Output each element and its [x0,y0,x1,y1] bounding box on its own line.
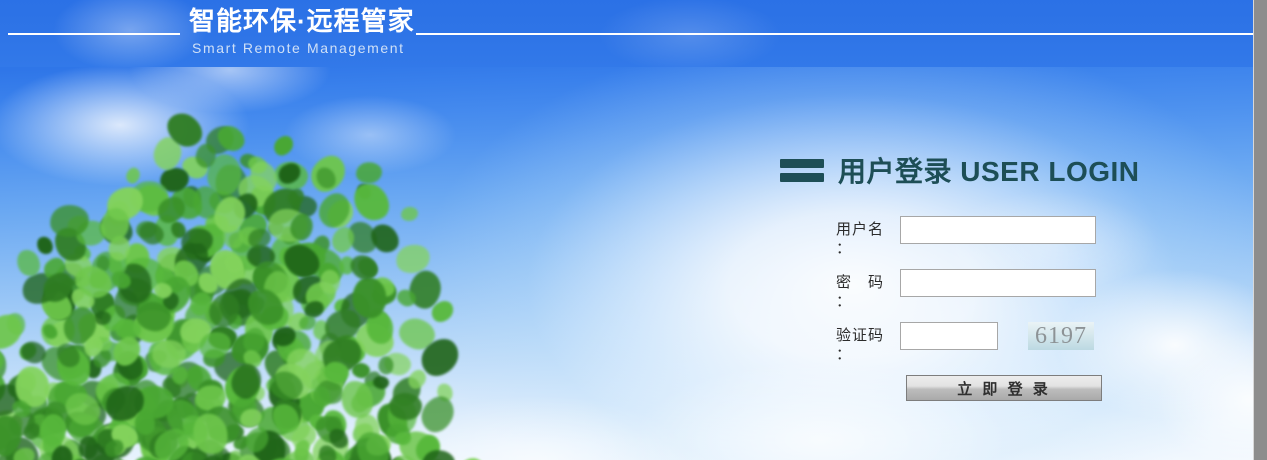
submit-row: 立 即 登 录 [906,375,1170,401]
vertical-scrollbar[interactable] [1253,0,1267,460]
username-label: 用户名 ： [836,216,900,258]
cloud-decoration [330,370,750,460]
username-input[interactable] [900,216,1096,244]
login-heading: 用户登录 USER LOGIN [838,150,1140,190]
brand: 智能环保·远程管家 Smart Remote Management [0,0,1267,67]
login-button[interactable]: 立 即 登 录 [906,375,1102,401]
captcha-row: 验证码 ： 6197 [836,322,1170,364]
login-form: 用户名 ： 密 码 ： 验证码 ： 6197 立 即 登 录 [836,216,1170,401]
cloud-decoration [250,80,490,190]
header-rule-left [8,33,180,35]
password-input[interactable] [900,269,1096,297]
captcha-input[interactable] [900,322,998,350]
login-heading-row: 用户登录 USER LOGIN [780,150,1170,190]
captcha-label: 验证码 ： [836,322,900,364]
captcha-image[interactable]: 6197 [1028,322,1094,350]
login-panel: 用户登录 USER LOGIN 用户名 ： 密 码 ： 验证码 ： 6197 立… [770,150,1170,401]
login-page: 智能环保·远程管家 Smart Remote Management 用户登录 U… [0,0,1267,460]
cloud-decoration [60,250,300,370]
brand-title: 智能环保·远程管家 [189,7,415,37]
username-row: 用户名 ： [836,216,1170,258]
header-rule-right [416,33,1259,35]
password-row: 密 码 ： [836,269,1170,311]
brand-subtitle: Smart Remote Management [192,40,405,56]
two-bars-icon [780,159,824,182]
password-label: 密 码 ： [836,269,900,311]
